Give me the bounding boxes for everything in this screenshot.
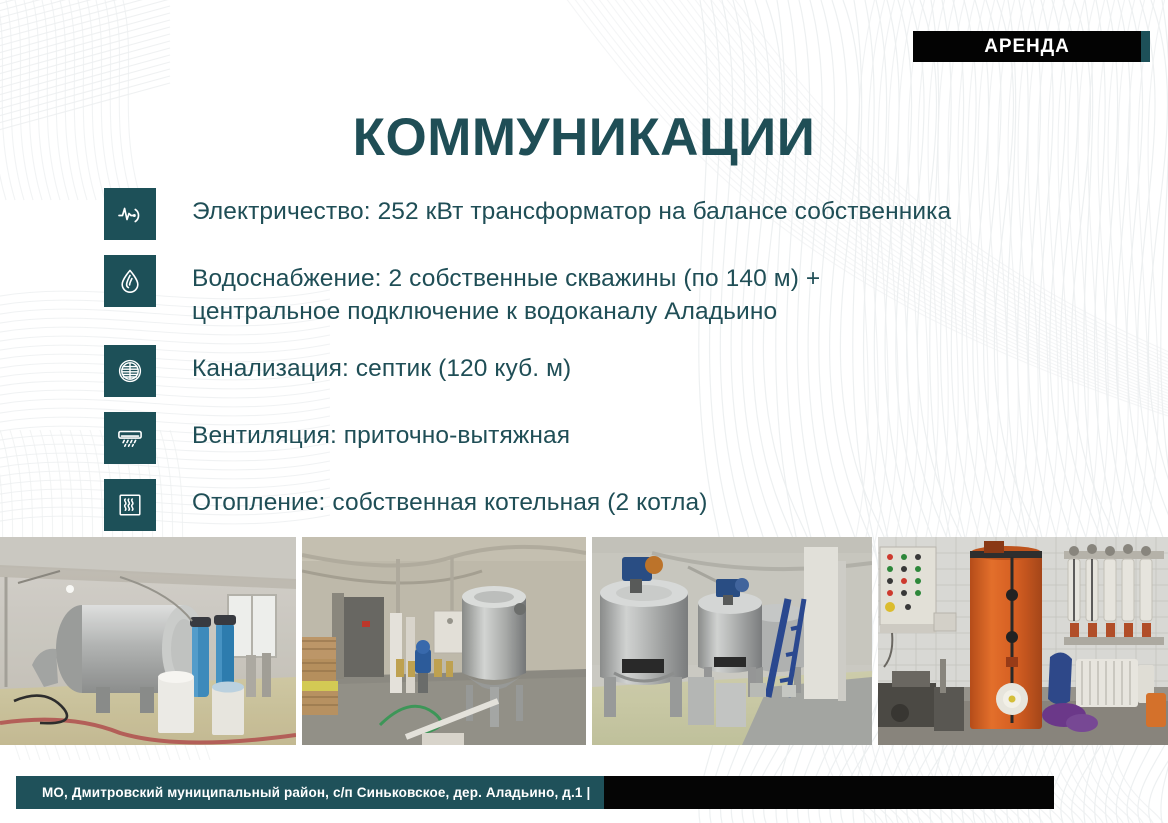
rent-badge-label: АРЕНДА: [984, 36, 1069, 58]
list-item: Водоснабжение: 2 собственные скважины (п…: [104, 255, 1104, 329]
list-item: Электричество: 252 кВт трансформатор на …: [104, 188, 1104, 240]
footer-address-bar: МО, Дмитровский муниципальный район, с/п…: [16, 776, 604, 809]
rent-badge-tail: [1141, 31, 1150, 62]
page-title: КОММУНИКАЦИИ: [0, 110, 1168, 166]
list-item-label: Электричество: 252 кВт трансформатор на …: [192, 188, 951, 229]
communications-list: Электричество: 252 кВт трансформатор на …: [104, 188, 1104, 531]
list-item: Канализация: септик (120 куб. м): [104, 345, 1104, 397]
footer-redacted-block: [604, 776, 1054, 809]
air-conditioner-icon: [104, 412, 156, 464]
heating-coil-icon: [104, 479, 156, 531]
water-drop-icon: [104, 255, 156, 307]
manhole-sewer-icon: [104, 345, 156, 397]
rent-badge-black-bar: АРЕНДА: [913, 31, 1141, 62]
list-item-label: Отопление: собственная котельная (2 котл…: [192, 479, 708, 520]
photo-water-tank-filtration: [0, 537, 296, 745]
photo-boiler-room: [878, 537, 1168, 745]
list-item-label: Вентиляция: приточно-вытяжная: [192, 412, 570, 453]
photo-mixing-tanks: [592, 537, 872, 745]
footer-address-label: МО, Дмитровский муниципальный район, с/п…: [42, 785, 590, 800]
electricity-pulse-icon: [104, 188, 156, 240]
footer-bar: МО, Дмитровский муниципальный район, с/п…: [16, 776, 1152, 809]
list-item: Вентиляция: приточно-вытяжная: [104, 412, 1104, 464]
list-item: Отопление: собственная котельная (2 котл…: [104, 479, 1104, 531]
list-item-label: Водоснабжение: 2 собственные скважины (п…: [192, 255, 820, 329]
rent-badge: АРЕНДА: [913, 31, 1150, 62]
photo-processing-room-tank: [302, 537, 586, 745]
photo-strip: [0, 537, 1168, 745]
list-item-label: Канализация: септик (120 куб. м): [192, 345, 571, 386]
